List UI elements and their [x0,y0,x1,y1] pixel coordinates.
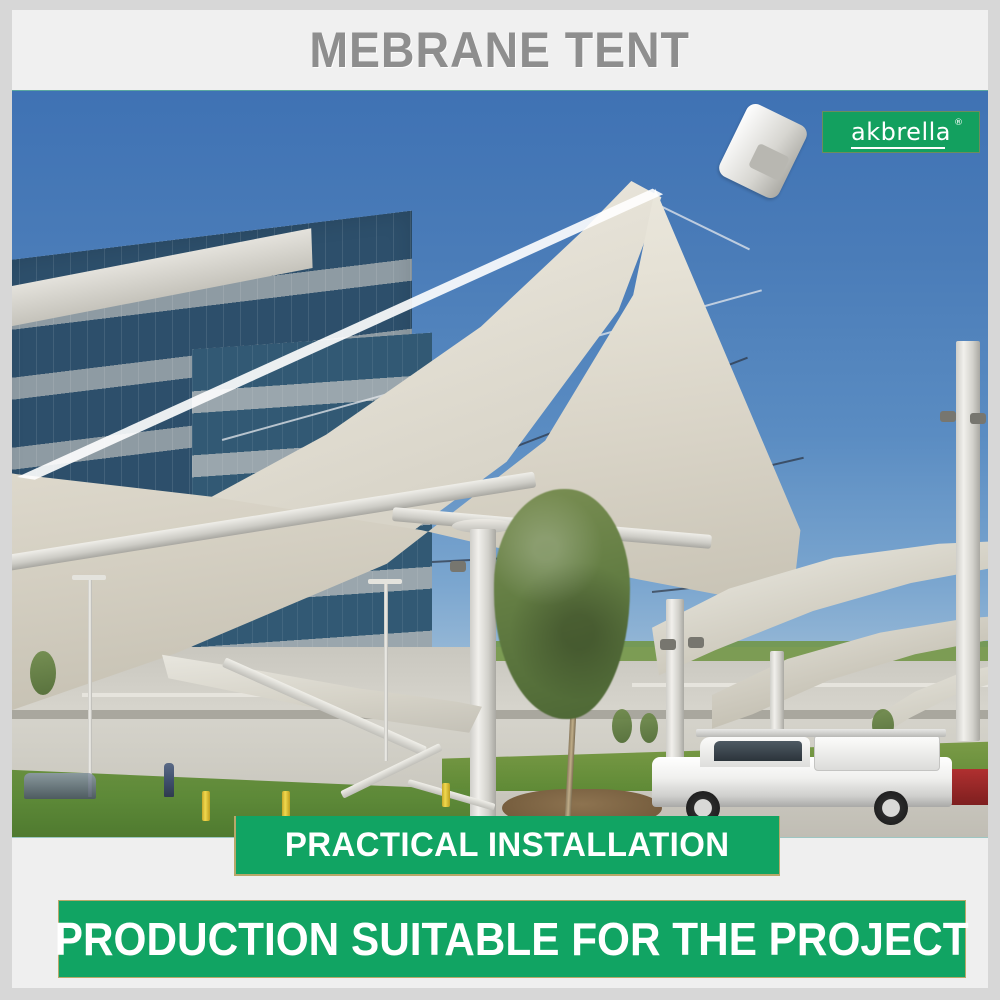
truck-utility-shell [814,735,940,771]
canopy-light-fixture [970,413,986,424]
registered-trademark-icon: ® [954,118,963,128]
curb-line [12,710,988,719]
background-tree [612,709,632,743]
steel-column-right [956,341,980,741]
brand-logo-inner: akbrella ® [847,120,955,145]
light-pole-head [72,575,106,580]
canopy-light-fixture [450,561,466,572]
canopy-light-fixture [660,639,676,650]
light-pole [88,577,92,797]
yellow-bollard [442,783,450,807]
background-tree [30,651,56,695]
truck-window [714,741,802,761]
poster-card: MEBRANE TENT [12,10,988,988]
banner-production-suitable: PRODUCTION SUITABLE FOR THE PROJECT [58,900,966,978]
brand-logo-underline [851,147,945,149]
brand-logo-text: akbrella [851,118,951,146]
banner-production-suitable-label: PRODUCTION SUITABLE FOR THE PROJECT [55,912,969,966]
distant-vehicle [24,773,96,799]
header-bar: MEBRANE TENT [12,10,988,90]
page-title: MEBRANE TENT [310,21,691,79]
banner-practical-installation-label: PRACTICAL INSTALLATION [285,826,730,865]
light-pole-head [368,579,402,584]
truck-ladder-rack [696,729,946,737]
canopy-light-fixture [688,637,704,648]
pedestrian [164,763,174,797]
white-pickup-truck [652,729,962,825]
truck-wheel [874,791,908,825]
light-pole [384,581,388,761]
canopy-light-fixture [940,411,956,422]
photo-scene: akbrella ® [12,91,988,837]
banner-practical-installation: PRACTICAL INSTALLATION [234,816,780,876]
poster-frame: MEBRANE TENT [0,0,1000,1000]
brand-logo: akbrella ® [822,111,980,153]
product-photo: akbrella ® [12,90,988,838]
steel-column-main [470,529,496,819]
yellow-bollard [202,791,210,821]
